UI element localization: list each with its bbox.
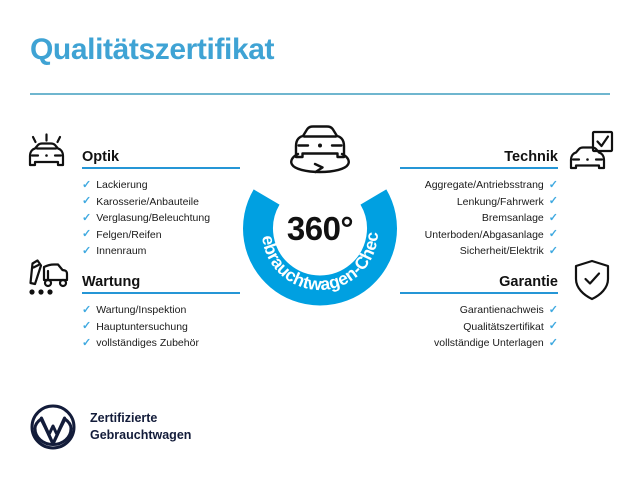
section-garantie-title: Garantie	[499, 274, 558, 290]
check-icon: ✓	[549, 246, 558, 257]
vw-logo-icon	[30, 404, 76, 450]
check-icon: ✓	[549, 229, 558, 240]
section-optik-title: Optik	[82, 149, 119, 165]
list-item: Lenkung/Fahrwerk✓	[400, 194, 558, 211]
car-rotate-360-icon	[282, 118, 358, 185]
section-garantie-list: Garantienachweis✓ Qualitätszertifikat✓ v…	[400, 302, 558, 352]
section-technik-header: Technik	[400, 143, 558, 169]
list-item-label: Bremsanlage	[482, 210, 544, 227]
page-title: Qualitätszertifikat	[30, 33, 274, 66]
car-checkbox-icon	[568, 130, 614, 179]
check-icon: ✓	[549, 213, 558, 224]
section-optik-list: ✓Lackierung ✓Karosserie/Anbauteile ✓Verg…	[82, 177, 240, 260]
badge-degrees-label: 360°	[238, 210, 402, 248]
car-shine-icon	[24, 132, 70, 179]
check-icon: ✓	[82, 305, 91, 316]
check-icon: ✓	[82, 246, 91, 257]
shield-check-icon	[571, 258, 613, 307]
list-item-label: Felgen/Reifen	[96, 227, 161, 244]
section-garantie-divider	[400, 292, 558, 294]
list-item-label: Qualitätszertifikat	[463, 319, 544, 336]
list-item: vollständige Unterlagen✓	[400, 335, 558, 352]
check-icon: ✓	[82, 229, 91, 240]
section-wartung-list: ✓Wartung/Inspektion ✓Hauptuntersuchung ✓…	[82, 302, 240, 352]
list-item-label: Garantienachweis	[460, 302, 544, 319]
list-item: ✓Lackierung	[82, 177, 240, 194]
section-technik: Technik Aggregate/Antriebsstrang✓ Lenkun…	[400, 143, 558, 260]
section-optik-divider	[82, 167, 240, 169]
certificate-page: Qualitätszertifikat Optik ✓Lackierung ✓K…	[0, 0, 640, 480]
list-item: ✓Karosserie/Anbauteile	[82, 194, 240, 211]
wrench-car-icon	[24, 258, 70, 305]
check-icon: ✓	[82, 196, 91, 207]
section-optik-header: Optik	[82, 143, 240, 169]
list-item-label: vollständige Unterlagen	[434, 335, 544, 352]
list-item-label: Aggregate/Antriebsstrang	[425, 177, 544, 194]
check-icon: ✓	[82, 321, 91, 332]
list-item: Sicherheit/Elektrik✓	[400, 243, 558, 260]
list-item-label: Wartung/Inspektion	[96, 302, 186, 319]
list-item: ✓Wartung/Inspektion	[82, 302, 240, 319]
section-optik: Optik ✓Lackierung ✓Karosserie/Anbauteile…	[82, 143, 240, 260]
check-icon: ✓	[549, 196, 558, 207]
section-garantie: Garantie Garantienachweis✓ Qualitätszert…	[400, 268, 558, 352]
list-item-label: vollständiges Zubehör	[96, 335, 199, 352]
section-wartung-title: Wartung	[82, 274, 140, 290]
list-item-label: Karosserie/Anbauteile	[96, 194, 199, 211]
section-technik-list: Aggregate/Antriebsstrang✓ Lenkung/Fahrwe…	[400, 177, 558, 260]
list-item-label: Sicherheit/Elektrik	[460, 243, 544, 260]
check-icon: ✓	[549, 180, 558, 191]
section-technik-title: Technik	[504, 149, 558, 165]
list-item: ✓Hauptuntersuchung	[82, 319, 240, 336]
section-wartung: Wartung ✓Wartung/Inspektion ✓Hauptunters…	[82, 268, 240, 352]
check-icon: ✓	[82, 180, 91, 191]
list-item: Bremsanlage✓	[400, 210, 558, 227]
footer-brand: Zertifizierte Gebrauchtwagen	[30, 404, 191, 450]
list-item-label: Verglasung/Beleuchtung	[96, 210, 210, 227]
list-item: ✓Innenraum	[82, 243, 240, 260]
list-item: Aggregate/Antriebsstrang✓	[400, 177, 558, 194]
list-item-label: Hauptuntersuchung	[96, 319, 188, 336]
check-icon: ✓	[549, 321, 558, 332]
list-item-label: Innenraum	[96, 243, 146, 260]
section-wartung-header: Wartung	[82, 268, 240, 294]
list-item: Garantienachweis✓	[400, 302, 558, 319]
check-icon: ✓	[549, 305, 558, 316]
section-technik-divider	[400, 167, 558, 169]
check-icon: ✓	[549, 338, 558, 349]
check-icon: ✓	[82, 338, 91, 349]
list-item: Qualitätszertifikat✓	[400, 319, 558, 336]
section-wartung-divider	[82, 292, 240, 294]
list-item-label: Lenkung/Fahrwerk	[457, 194, 544, 211]
list-item: Unterboden/Abgasanlage✓	[400, 227, 558, 244]
list-item-label: Unterboden/Abgasanlage	[425, 227, 544, 244]
badge-360-gebrauchtwagen-check: Gebrauchtwagen-Check 360°	[238, 150, 402, 314]
list-item: ✓Felgen/Reifen	[82, 227, 240, 244]
list-item-label: Lackierung	[96, 177, 147, 194]
check-icon: ✓	[82, 213, 91, 224]
section-garantie-header: Garantie	[400, 268, 558, 294]
list-item: ✓Verglasung/Beleuchtung	[82, 210, 240, 227]
list-item: ✓vollständiges Zubehör	[82, 335, 240, 352]
title-divider	[30, 93, 610, 95]
footer-brand-text: Zertifizierte Gebrauchtwagen	[90, 410, 191, 444]
